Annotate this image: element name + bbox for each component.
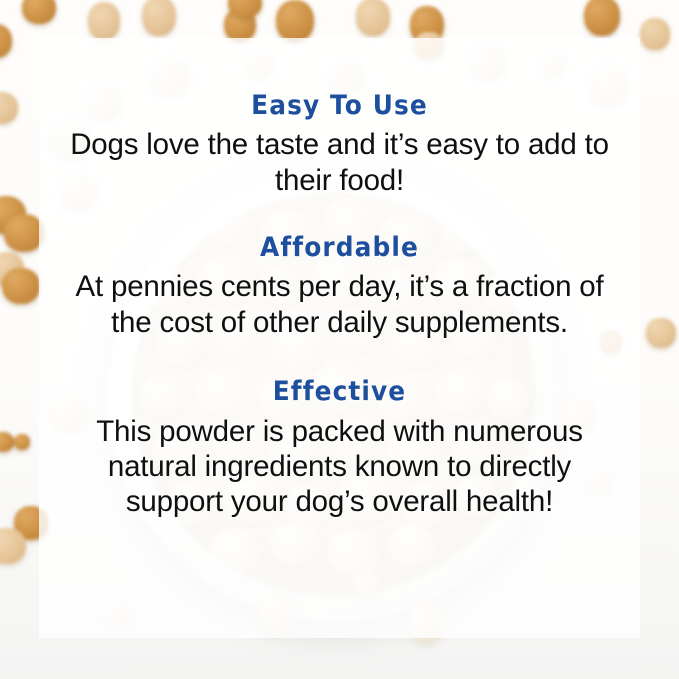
benefit-body-easy-to-use: Dogs love the taste and it’s easy to add…	[57, 127, 622, 198]
benefit-heading-effective: Effective	[80, 376, 600, 407]
spacer-two	[57, 344, 622, 376]
benefit-block-affordable: Affordable At pennies cents per day, it’…	[57, 232, 622, 340]
spacer-one	[57, 202, 622, 232]
benefit-block-effective: Effective This powder is packed with num…	[57, 376, 622, 519]
benefit-heading-easy-to-use: Easy To Use	[80, 90, 600, 121]
benefit-body-effective: This powder is packed with numerous natu…	[57, 414, 622, 520]
benefit-heading-affordable: Affordable	[80, 232, 600, 263]
benefit-body-affordable: At pennies cents per day, it’s a fractio…	[57, 269, 622, 340]
marketing-image: Easy To Use Dogs love the taste and it’s…	[0, 0, 679, 679]
text-overlay-card: Easy To Use Dogs love the taste and it’s…	[39, 38, 640, 638]
benefit-block-easy-to-use: Easy To Use Dogs love the taste and it’s…	[57, 90, 622, 198]
